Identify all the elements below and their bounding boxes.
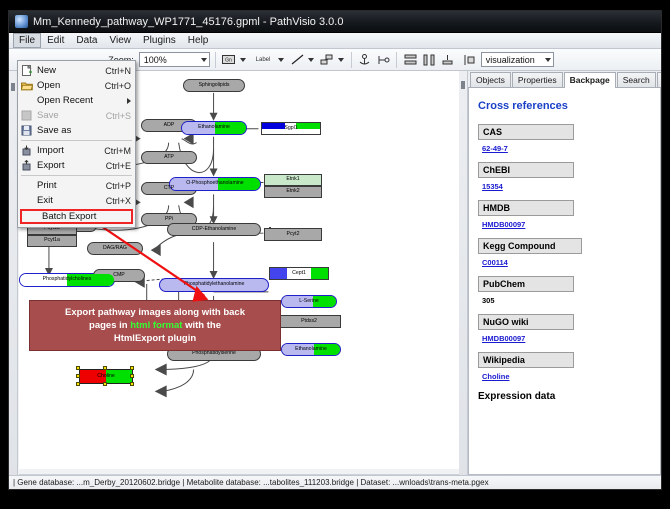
selection-handle-s[interactable] (103, 382, 107, 386)
node-label: ADP (164, 123, 175, 128)
new-document-icon (20, 65, 33, 77)
node-label: ATP (164, 155, 174, 160)
node-label: Etnk1 (286, 177, 299, 182)
node-sphingolipids[interactable]: Sphingolipids (183, 79, 245, 92)
callout-highlight: html format (130, 320, 182, 331)
xref-db-label: PubChem (478, 276, 574, 292)
side-panel-collapse-handle[interactable] (459, 71, 468, 489)
node-label: Sgpl1 (284, 126, 297, 131)
node-label: CDP-Ethanolamine (192, 227, 236, 232)
visualization-value: visualization (486, 55, 535, 65)
node-ethanolamine[interactable]: Ethanolamine (181, 121, 247, 135)
selection-handle-sw[interactable] (76, 382, 80, 386)
file-menu-new-shortcut: Ctrl+N (105, 66, 131, 76)
file-menu-batch-export-label: Batch Export (42, 211, 131, 222)
xref-db-label: CAS (478, 124, 574, 140)
menu-file[interactable]: File (13, 33, 41, 48)
file-menu-print-shortcut: Ctrl+P (106, 181, 131, 191)
xref-link[interactable]: 62-49-7 (482, 144, 651, 153)
menu-bar: File Edit Data View Plugins Help (9, 33, 661, 49)
node-label: L-Serine (299, 299, 319, 304)
tab-objects[interactable]: Objects (470, 72, 511, 87)
node-label: Ptdss2 (301, 319, 317, 324)
side-panel-tabs: Objects Properties Backpage Search Legen… (468, 71, 661, 88)
file-menu-exit-shortcut: Ctrl+X (106, 196, 131, 206)
grip-icon-2 (461, 81, 465, 89)
visualization-combobox[interactable]: visualization (481, 52, 554, 67)
svg-text:Gn: Gn (226, 58, 233, 64)
tab-properties[interactable]: Properties (512, 72, 563, 87)
node-cdp-ethanolamine[interactable]: CDP-Ethanolamine (167, 223, 261, 236)
xref-kegg-compound: Kegg Compound C00114 (478, 238, 651, 267)
label-icon[interactable]: Label (251, 51, 275, 68)
node-label: Etnk2 (286, 189, 299, 194)
screenshot-frame: Mm_Kennedy_pathway_WP1771_45176.gpml - P… (0, 0, 670, 509)
callout-line-2: pages in html format with the (36, 319, 274, 332)
callout-line-1: Export pathway images along with back (36, 306, 274, 319)
stack-icon[interactable] (440, 51, 456, 68)
file-menu-save: Save Ctrl+S (18, 108, 135, 123)
align-rows-icon[interactable] (402, 51, 418, 68)
open-folder-icon (20, 80, 33, 92)
gene-product-dropdown-icon[interactable] (240, 58, 246, 62)
node-label: DAG/RAG (103, 246, 127, 251)
tab-legend[interactable]: Legend (657, 72, 662, 87)
label-dropdown-icon[interactable] (278, 58, 284, 62)
node-o-phosphoethanolamine[interactable]: O-Phosphoethanolamine (169, 177, 261, 191)
node-etnk1[interactable]: Etnk1 (264, 174, 322, 186)
node-sgpl1[interactable]: Sgpl1 (261, 122, 321, 135)
file-menu-batch-export[interactable]: Batch Export (20, 209, 133, 224)
xref-db-label: Kegg Compound (478, 238, 582, 254)
callout-line-3: HtmlExport plugin (36, 332, 274, 345)
file-menu-save-as-label: Save as (37, 125, 131, 136)
xref-wikipedia: Wikipedia Choline (478, 352, 651, 381)
zoom-combobox[interactable]: 100% (139, 52, 210, 67)
grip-icon (11, 83, 15, 91)
anchor-icon[interactable] (357, 51, 373, 68)
file-menu-export-label: Export (37, 160, 106, 171)
chevron-down-icon-2 (545, 58, 551, 62)
file-menu-export-shortcut: Ctrl+E (106, 161, 131, 171)
expression-data-title: Expression data (478, 391, 651, 402)
file-menu-import-label: Import (37, 145, 104, 156)
zoom-value: 100% (144, 55, 167, 65)
annotation-callout: Export pathway images along with back pa… (29, 300, 281, 351)
file-menu-exit[interactable]: Exit Ctrl+X (18, 193, 135, 208)
state-icon[interactable] (376, 51, 392, 68)
node-label: Phosphatidylserine (192, 351, 236, 356)
align-columns-icon[interactable] (421, 51, 437, 68)
node-label: Choline (97, 374, 115, 379)
menu-data[interactable]: Data (70, 33, 103, 48)
file-menu-exit-label: Exit (37, 195, 106, 206)
file-menu-print-label: Print (37, 180, 106, 191)
import-icon (20, 145, 33, 157)
node-etnk2[interactable]: Etnk2 (264, 186, 322, 198)
file-menu-open-label: Open (37, 80, 105, 91)
file-menu-new[interactable]: New Ctrl+N (18, 63, 135, 78)
node-ethanolamine-2[interactable]: Ethanolamine (281, 343, 341, 356)
node-label: CTP (164, 186, 174, 191)
xref-link[interactable]: 15354 (482, 182, 651, 191)
xref-link[interactable]: HMDB00097 (482, 220, 651, 229)
node-phosphatidylcholines[interactable]: Phosphatidylcholines (19, 273, 115, 287)
tab-search[interactable]: Search (617, 72, 656, 87)
node-label: Ethanolamine (198, 125, 230, 130)
shape-icon[interactable] (319, 51, 335, 68)
side-panel: Objects Properties Backpage Search Legen… (459, 71, 661, 489)
selection-handle-e[interactable] (130, 374, 134, 378)
node-dag-rag[interactable]: DAG/RAG (87, 242, 143, 255)
tab-backpage[interactable]: Backpage (564, 72, 616, 88)
node-label: PPi (165, 217, 173, 222)
node-cept1[interactable]: Cept1 (269, 267, 329, 280)
node-pcyt1a[interactable]: Pcyt1a (27, 235, 77, 247)
xref-cas: CAS 62-49-7 (478, 124, 651, 153)
spacer-icon-3 (20, 195, 33, 207)
status-bar-text: | Gene database: ...m_Derby_20120602.bri… (13, 478, 489, 487)
gene-product-icon[interactable]: Gn (221, 51, 237, 68)
file-menu-dropdown: New Ctrl+N Open Ctrl+O Open Recent Save (17, 60, 136, 228)
spacer-icon (20, 95, 33, 107)
file-menu-open-shortcut: Ctrl+O (105, 81, 131, 91)
menu-help[interactable]: Help (182, 33, 215, 48)
xref-link[interactable]: Choline (482, 372, 651, 381)
node-l-serine[interactable]: L-Serine (281, 295, 337, 308)
xref-value: 305 (482, 296, 651, 305)
pathvisio-app-icon (15, 15, 28, 28)
file-menu-export[interactable]: Export Ctrl+E (18, 158, 135, 173)
node-label: Phosphatidylcholines (43, 277, 92, 282)
toolbar-separator-2 (351, 52, 352, 68)
xref-nugo-wiki: NuGO wiki HMDB00097 (478, 314, 651, 343)
export-icon (20, 160, 33, 172)
node-label: Phosphatidylethanolamine (184, 282, 245, 287)
selection-handle-se[interactable] (130, 382, 134, 386)
node-label: CMP (113, 273, 125, 278)
file-menu-open-recent-label: Open Recent (37, 95, 127, 106)
toolbar-separator (215, 52, 216, 68)
xref-db-label: NuGO wiki (478, 314, 574, 330)
menu-edit[interactable]: Edit (41, 33, 70, 48)
file-menu-import-shortcut: Ctrl+M (104, 146, 131, 156)
submenu-arrow-icon (127, 98, 131, 104)
selection-handle-nw[interactable] (76, 366, 80, 370)
status-bar: | Gene database: ...m_Derby_20120602.bri… (9, 475, 661, 489)
node-ptdss2[interactable]: Ptdss2 (277, 315, 341, 328)
file-menu-new-label: New (37, 65, 105, 76)
xref-hmdb: HMDB HMDB00097 (478, 200, 651, 229)
file-menu-open-recent[interactable]: Open Recent (18, 93, 135, 108)
file-menu-separator-2 (21, 175, 132, 176)
file-menu-save-label: Save (37, 110, 106, 121)
xref-db-label: HMDB (478, 200, 574, 216)
visualization-icon[interactable] (462, 51, 478, 68)
node-label: Cept1 (292, 271, 306, 276)
chevron-down-icon (201, 58, 207, 62)
backpage-content: Cross references CAS 62-49-7 ChEBI 15354… (468, 88, 661, 475)
title-bar: Mm_Kennedy_pathway_WP1771_45176.gpml - P… (9, 11, 661, 33)
label-text: Label (256, 57, 271, 63)
node-label: Sphingolipids (199, 83, 230, 88)
file-menu-save-as[interactable]: Save as (18, 123, 135, 138)
callout-line-2-pre: pages in (89, 320, 130, 331)
node-pcyt2[interactable]: Pcyt2 (264, 228, 322, 241)
menu-view[interactable]: View (103, 33, 137, 48)
shape-dropdown-icon[interactable] (338, 58, 344, 62)
save-disabled-icon (20, 110, 33, 122)
selection-handle-n[interactable] (103, 366, 107, 370)
xref-chebi: ChEBI 15354 (478, 162, 651, 191)
xref-pubchem: PubChem 305 (478, 276, 651, 305)
xref-db-label: ChEBI (478, 162, 574, 178)
save-as-icon (20, 125, 33, 137)
node-phosphatidylethanolamine[interactable]: Phosphatidylethanolamine (159, 278, 269, 292)
callout-line-2-post: with the (182, 320, 221, 331)
line-dropdown-icon[interactable] (308, 58, 314, 62)
node-label: Pcyt2 (287, 232, 300, 237)
cross-references-title: Cross references (478, 100, 651, 112)
node-label: O-Phosphoethanolamine (186, 181, 243, 186)
selection-handle-w[interactable] (76, 374, 80, 378)
xref-link[interactable]: C00114 (482, 258, 651, 267)
file-menu-separator-1 (21, 140, 132, 141)
xref-db-label: Wikipedia (478, 352, 574, 368)
node-label: Ethanolamine (295, 347, 327, 352)
xref-link[interactable]: HMDB00097 (482, 334, 651, 343)
selection-handle-ne[interactable] (130, 366, 134, 370)
file-menu-import[interactable]: Import Ctrl+M (18, 143, 135, 158)
file-menu-print[interactable]: Print Ctrl+P (18, 178, 135, 193)
window-title: Mm_Kennedy_pathway_WP1771_45176.gpml - P… (33, 16, 343, 28)
toolbar-separator-3 (396, 52, 397, 68)
file-menu-open[interactable]: Open Ctrl+O (18, 78, 135, 93)
spacer-icon-2 (20, 180, 33, 192)
node-atp[interactable]: ATP (141, 151, 197, 164)
line-icon[interactable] (289, 51, 305, 68)
application-window: Mm_Kennedy_pathway_WP1771_45176.gpml - P… (8, 10, 662, 490)
node-label: Pcyt1a (44, 238, 60, 243)
file-menu-save-shortcut: Ctrl+S (106, 111, 131, 121)
menu-plugins[interactable]: Plugins (137, 33, 182, 48)
